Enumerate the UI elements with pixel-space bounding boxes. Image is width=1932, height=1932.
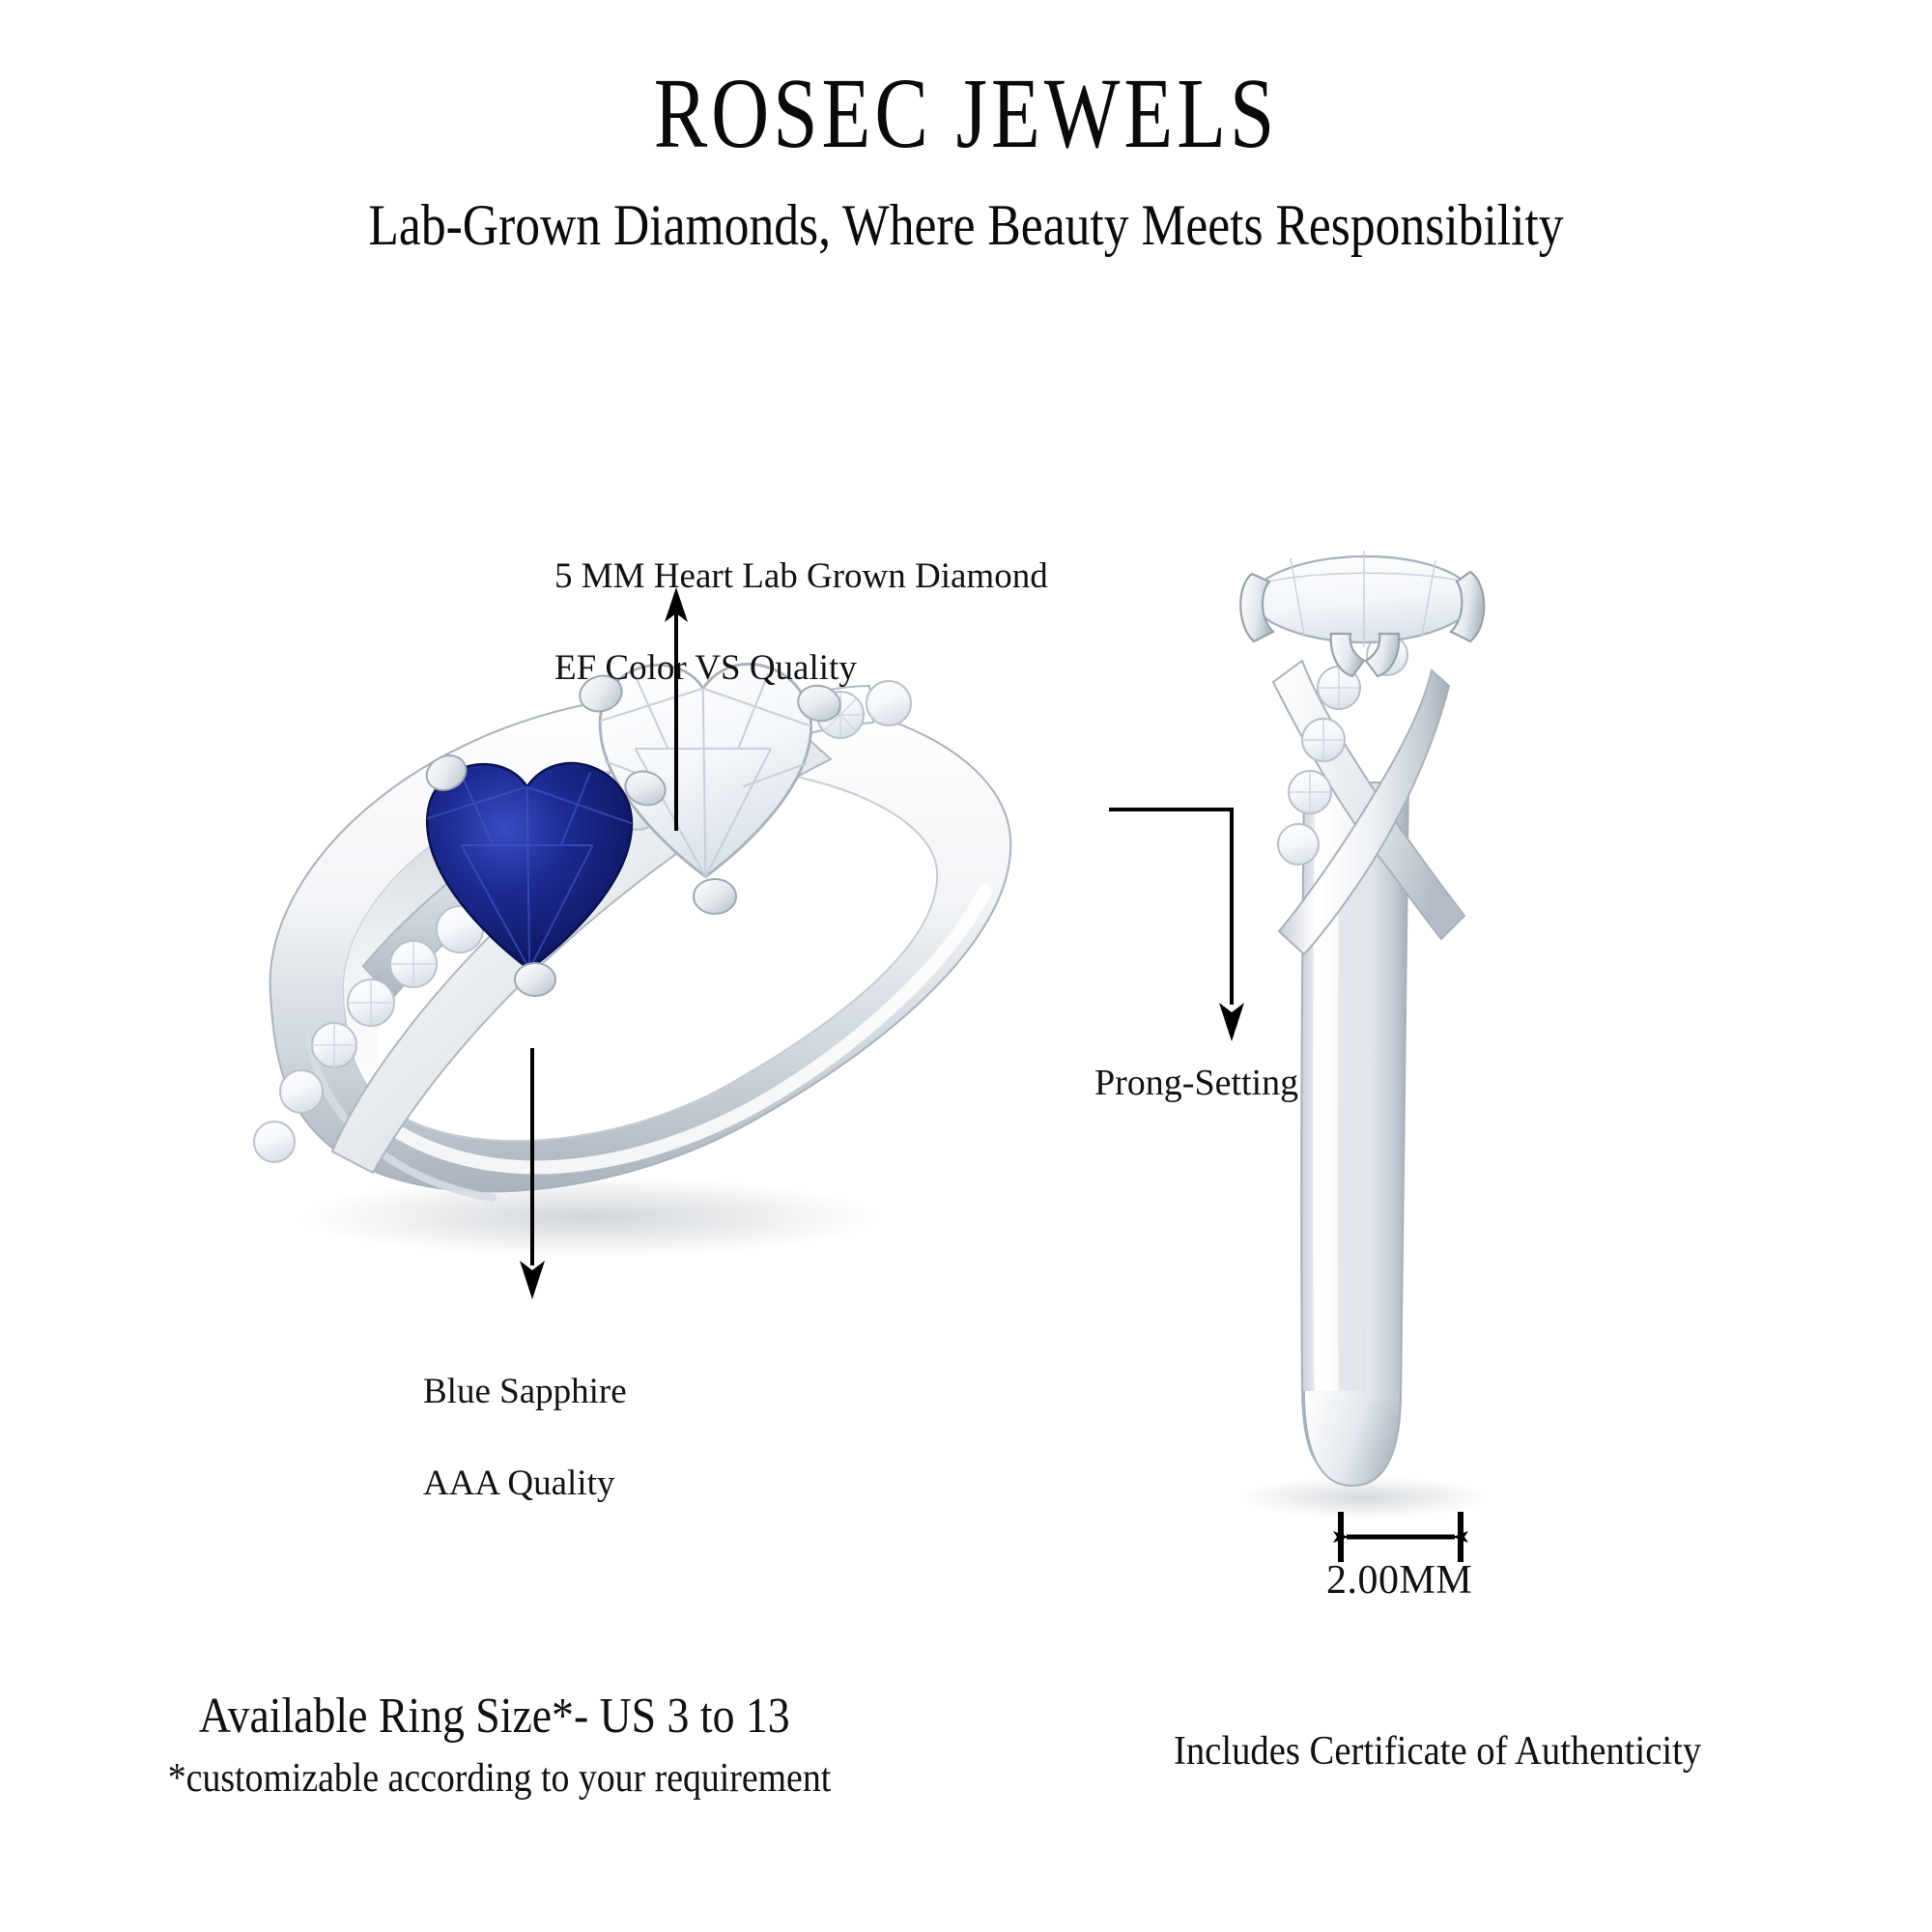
crown-stone-side [1240,551,1484,676]
callout-center-stone-line2: EF Color VS Quality [554,645,1048,691]
callout-center-stone: 5 MM Heart Lab Grown Diamond EF Color VS… [554,508,1048,737]
infographic-page: ROSEC JEWELS Lab-Grown Diamonds, Where B… [0,0,1932,1932]
callout-accent-stone-line1: Blue Sapphire [423,1369,627,1414]
callout-accent-stone: Blue Sapphire AAA Quality [423,1323,627,1552]
page-subtitle: Lab-Grown Diamonds, Where Beauty Meets R… [135,193,1797,257]
footer-ring-size: Available Ring Size*- US 3 to 13 [188,1689,801,1745]
ring-side-view [1159,541,1604,1536]
callout-accent-stone-line2: AAA Quality [423,1461,627,1506]
footer-ring-size-note: *customizable according to your requirem… [143,1756,856,1802]
footer-certificate: Includes Certificate of Authenticity [1174,1729,1701,1775]
page-title: ROSEC JEWELS [193,60,1739,168]
callout-center-stone-line1: 5 MM Heart Lab Grown Diamond [554,554,1048,599]
callout-prong-setting: Prong-Setting [1094,1060,1298,1107]
dimension-label-band-width: 2.00MM [1326,1555,1472,1607]
